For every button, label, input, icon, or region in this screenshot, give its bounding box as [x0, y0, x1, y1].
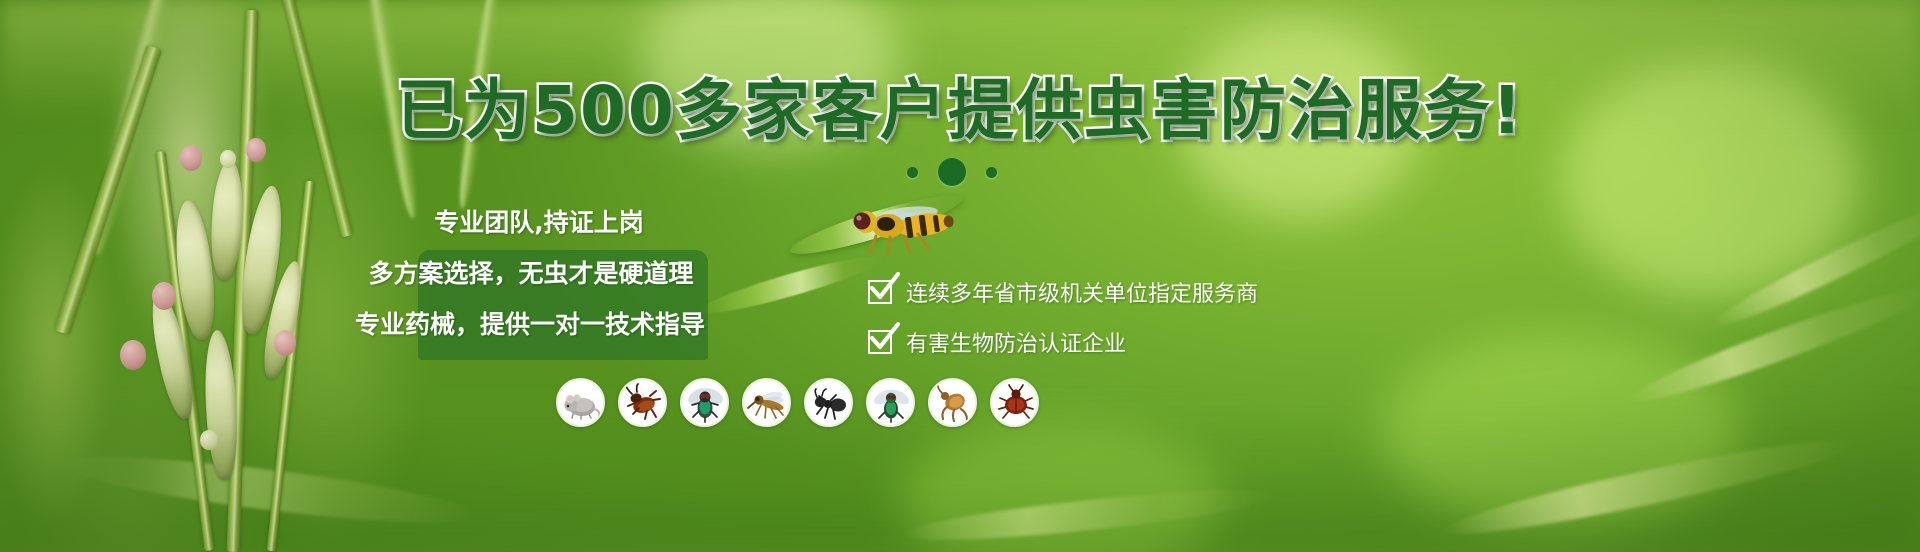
- dot-small-right: [986, 167, 997, 178]
- headline-text: 已为500多家客户提供虫害防治服务!: [396, 72, 1524, 149]
- feature-label: 有害生物防治认证企业: [906, 326, 1126, 358]
- pest-icon-mouse[interactable]: [556, 378, 605, 427]
- pest-icon-housefly[interactable]: [680, 378, 729, 427]
- feature-item: 连续多年省市级机关单位指定服务商: [868, 276, 1388, 308]
- dot-large-center: [938, 158, 966, 186]
- feature-label: 连续多年省市级机关单位指定服务商: [906, 276, 1258, 308]
- dot-small-left: [907, 167, 918, 178]
- check-box-icon: [868, 330, 892, 354]
- pest-icon-cockroach[interactable]: [618, 378, 667, 427]
- pest-control-hero-banner: 已为500多家客户提供虫害防治服务! 专业团队,持证上岗 多方案选择，无虫才是硬…: [0, 0, 1920, 552]
- slogan-line-3: 专业药械，提供一对一技术指导: [330, 312, 730, 337]
- pest-icon-ant[interactable]: [804, 378, 853, 427]
- page-title: 已为500多家客户提供虫害防治服务!: [0, 78, 1920, 144]
- pest-icon-row: [556, 378, 1039, 427]
- grass-blade: [1708, 190, 1920, 336]
- hoverfly-icon: [846, 200, 966, 260]
- decorative-dots: [0, 158, 1912, 186]
- slogan-line-2: 多方案选择，无虫才是硬道理: [332, 261, 730, 286]
- slogan-line-1: 专业团队,持证上岗: [348, 210, 730, 235]
- pest-icon-blowfly[interactable]: [866, 378, 915, 427]
- feature-item: 有害生物防治认证企业: [868, 326, 1388, 358]
- pest-icon-flea[interactable]: [928, 378, 977, 427]
- feature-list: 连续多年省市级机关单位指定服务商 有害生物防治认证企业: [868, 276, 1388, 376]
- grass-blade: [1625, 276, 1920, 414]
- slogan-list: 专业团队,持证上岗 多方案选择，无虫才是硬道理 专业药械，提供一对一技术指导: [330, 210, 730, 337]
- check-box-icon: [868, 280, 892, 304]
- pest-icon-mosquito[interactable]: [742, 378, 791, 427]
- pest-icon-bedbug[interactable]: [990, 378, 1039, 427]
